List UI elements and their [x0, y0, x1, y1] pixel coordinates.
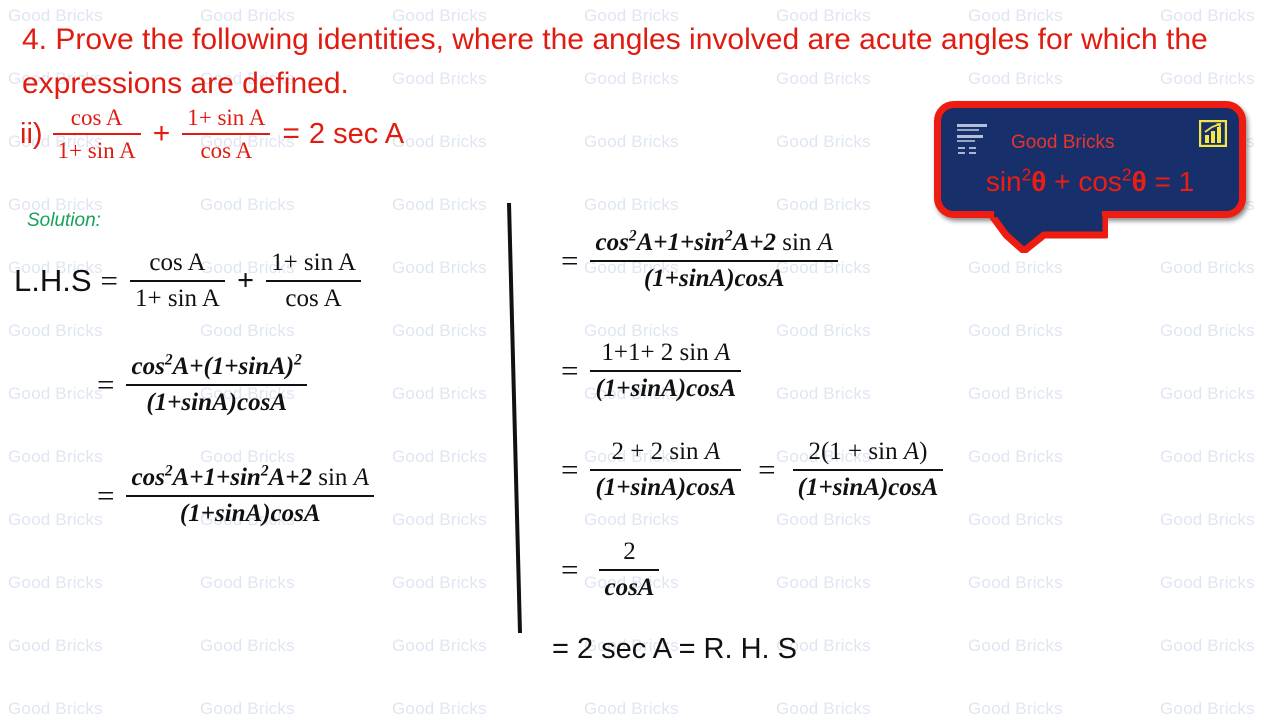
fraction-bar	[599, 569, 659, 571]
step-left-3-fraction: cos2A+1+sin2A+2 sin A (1+sinA)cosA	[126, 463, 373, 528]
problem-fraction-1: cos A 1+ sin A	[53, 104, 141, 164]
equals-sign: =	[561, 552, 578, 588]
fraction-bar	[182, 133, 270, 135]
equals-sign: =	[97, 367, 114, 403]
solution-step-right-2: = 1+1+ 2 sin A (1+sinA)cosA	[552, 338, 744, 403]
solution-step-left-3: = cos2A+1+sin2A+2 sin A (1+sinA)cosA	[88, 463, 377, 528]
bar-chart-icon	[1199, 120, 1227, 147]
equals-sign: =	[561, 243, 578, 279]
step-right-1-fraction: cos2A+1+sin2A+2 sin A (1+sinA)cosA	[590, 228, 837, 293]
fraction-bar	[130, 280, 225, 282]
fraction-bar	[126, 384, 306, 386]
step-lhs-fraction-2: 1+ sin A cos A	[266, 248, 361, 313]
identity-formula: sin2θ + cos2θ = 1	[941, 166, 1239, 198]
fraction-numerator: cos2A+(1+sinA)2	[126, 352, 306, 382]
fraction-numerator: 1+1+ 2 sin A	[596, 338, 735, 368]
problem-operator-plus: +	[153, 117, 171, 151]
solution-step-right-4: = 2 cosA	[552, 537, 662, 602]
step-right-4-fraction: 2 cosA	[599, 537, 659, 602]
solution-step-right-3: = 2 + 2 sin A (1+sinA)cosA = 2(1 + sin A…	[552, 437, 946, 502]
fraction-numerator: 2	[607, 537, 652, 567]
fraction-denominator: (1+sinA)cosA	[175, 499, 326, 529]
equals-sign: =	[561, 452, 578, 488]
fraction-bar	[126, 495, 373, 497]
fraction-numerator: cos A	[144, 248, 210, 278]
equals-sign: =	[97, 478, 114, 514]
problem-item-label: ii)	[20, 118, 43, 151]
callout-pointer-tail	[988, 211, 1108, 253]
step-lhs-fraction-1: cos A 1+ sin A	[130, 248, 225, 313]
fraction-numerator: 1+ sin A	[266, 248, 361, 278]
page-title: 4. Prove the following identities, where…	[22, 18, 1267, 106]
good-bricks-logo-icon	[955, 121, 1001, 161]
step-left-2-fraction: cos2A+(1+sinA)2 (1+sinA)cosA	[126, 352, 306, 417]
lhs-label: L.H.S	[14, 263, 92, 299]
identity-callout: Good Bricks sin2θ + cos2θ = 1	[934, 101, 1246, 218]
problem-right-side: 2 sec A	[309, 118, 404, 151]
solution-step-lhs: L.H.S = cos A 1+ sin A + 1+ sin A cos A	[14, 248, 364, 313]
fraction-denominator: (1+sinA)cosA	[590, 374, 741, 404]
solution-label: Solution:	[27, 210, 101, 232]
theta-symbol: θ	[1132, 166, 1147, 197]
solution-step-right-1: = cos2A+1+sin2A+2 sin A (1+sinA)cosA	[552, 228, 841, 293]
step-right-3-fraction-b: 2(1 + sin A) (1+sinA)cosA	[793, 437, 944, 502]
fraction-denominator: 1+ sin A	[130, 284, 225, 314]
solution-final-result: = 2 sec A = R. H. S	[552, 633, 797, 666]
fraction-denominator: cos A	[195, 137, 257, 164]
equals-sign-2: =	[758, 452, 775, 488]
fraction-bar	[53, 133, 141, 135]
column-divider	[500, 200, 530, 636]
fraction-denominator: 1+ sin A	[53, 137, 141, 164]
fraction-bar	[266, 280, 361, 282]
step-right-2-fraction: 1+1+ 2 sin A (1+sinA)cosA	[590, 338, 741, 403]
final-result-text: = 2 sec A = R. H. S	[552, 633, 797, 666]
fraction-numerator: cos2A+1+sin2A+2 sin A	[126, 463, 373, 493]
fraction-bar	[590, 370, 741, 372]
fraction-denominator: (1+sinA)cosA	[141, 388, 292, 418]
fraction-numerator: 2(1 + sin A)	[803, 437, 932, 467]
fraction-denominator: (1+sinA)cosA	[639, 264, 790, 294]
fraction-denominator: cosA	[599, 573, 659, 603]
problem-equals: =	[282, 117, 300, 151]
fraction-denominator: (1+sinA)cosA	[590, 473, 741, 503]
theta-symbol: θ	[1031, 166, 1046, 197]
fraction-numerator: cos2A+1+sin2A+2 sin A	[590, 228, 837, 258]
fraction-denominator: cos A	[280, 284, 346, 314]
fraction-bar	[590, 260, 837, 262]
fraction-numerator: 1+ sin A	[182, 104, 270, 131]
equals-sign: =	[101, 263, 118, 299]
slide-content: 4. Prove the following identities, where…	[0, 0, 1280, 720]
fraction-denominator: (1+sinA)cosA	[793, 473, 944, 503]
operator-plus: +	[237, 264, 254, 298]
equals-sign: =	[561, 353, 578, 389]
fraction-numerator: 2 + 2 sin A	[607, 437, 726, 467]
problem-fraction-2: 1+ sin A cos A	[182, 104, 270, 164]
step-right-3-fraction-a: 2 + 2 sin A (1+sinA)cosA	[590, 437, 741, 502]
solution-step-left-2: = cos2A+(1+sinA)2 (1+sinA)cosA	[88, 352, 310, 417]
fraction-bar	[590, 469, 741, 471]
fraction-bar	[793, 469, 944, 471]
fraction-numerator: cos A	[66, 104, 128, 131]
problem-statement: ii) cos A 1+ sin A + 1+ sin A cos A = 2 …	[20, 104, 404, 164]
callout-box: Good Bricks sin2θ + cos2θ = 1	[934, 101, 1246, 218]
callout-brand-label: Good Bricks	[1011, 132, 1114, 154]
